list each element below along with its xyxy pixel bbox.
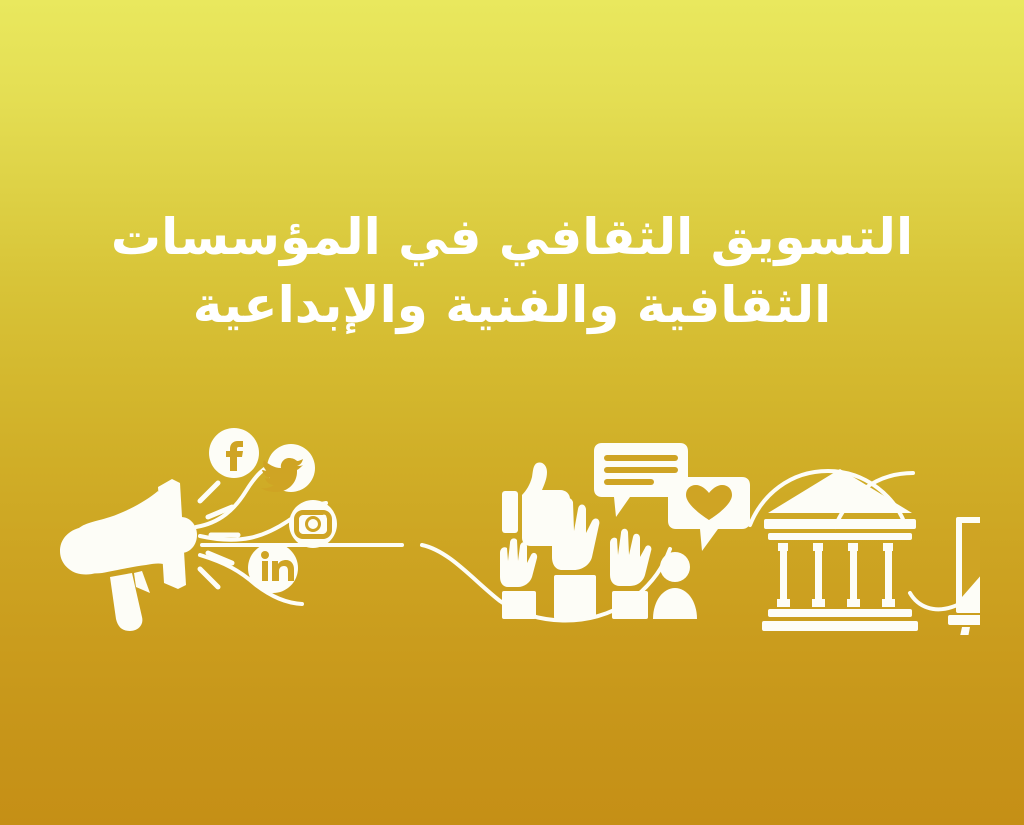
- megaphone-ray-5: [200, 569, 218, 587]
- facebook-icon: [209, 428, 259, 478]
- twitter-icon: [261, 444, 315, 492]
- instagram-icon: [289, 500, 337, 548]
- easel-painting-icon: [948, 489, 980, 635]
- banner-canvas: التسويق الثقافي في المؤسسات الثقافية وال…: [0, 0, 1024, 825]
- linkedin-icon: [248, 543, 298, 593]
- title-line-1: التسويق الثقافي في المؤسسات: [0, 203, 1024, 271]
- museum-building-icon: [762, 469, 918, 631]
- person-icon: [653, 552, 697, 619]
- illustration-group: [50, 405, 980, 635]
- title-line-2: الثقافية والفنية والإبداعية: [0, 271, 1024, 339]
- page-title: التسويق الثقافي في المؤسسات الثقافية وال…: [0, 203, 1024, 339]
- megaphone-ray-1: [200, 483, 218, 501]
- speech-bubble-heart-icon: [668, 477, 750, 551]
- megaphone-icon: [60, 479, 238, 631]
